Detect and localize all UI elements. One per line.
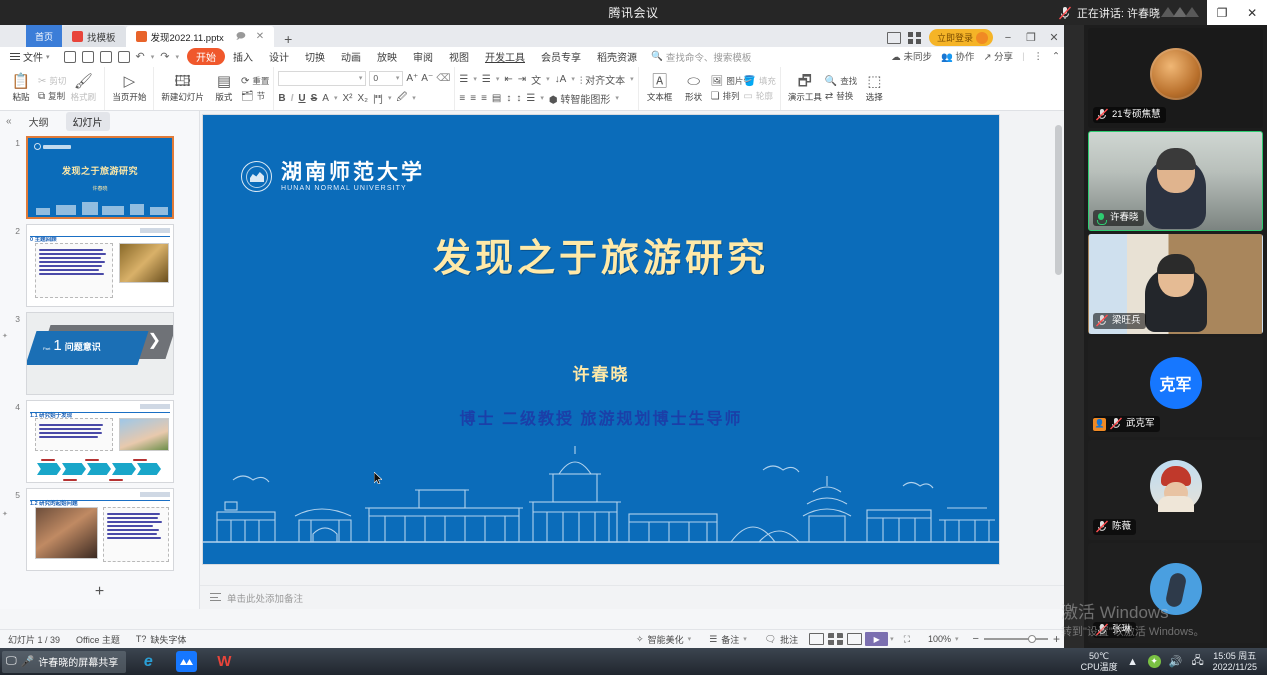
mic-muted-glyph (1096, 623, 1108, 636)
participant-tile-3[interactable]: 梁旺兵 (1088, 234, 1263, 334)
wps-office-window: 首页 找模板 发现2022.11.pptx 🗩 ✕ + 立即登录 − (0, 25, 1064, 648)
chevron-down-icon: ▾ (359, 74, 363, 82)
divider (30, 500, 170, 502)
status-bar-right: ✧ 智能美化 ▾ ☰ 备注 ▾ 🗨 批注 ▶ ▾ ⛶ (628, 632, 1064, 646)
chevron-down-icon: ▾ (396, 74, 400, 82)
participant-name-badge: 梁旺兵 (1093, 313, 1146, 329)
chevron-down-icon[interactable]: ▾ (890, 635, 894, 643)
new-slide-button[interactable]: 🖽 新建幻灯片 (158, 74, 207, 103)
thumbnail-content: 发现之于旅游研究 许春晓 (28, 138, 172, 217)
divider (30, 412, 170, 414)
text-direction-icon[interactable]: 文 (531, 72, 541, 87)
close-window-icon[interactable]: ✕ (1046, 31, 1062, 44)
paste-button[interactable]: 📋 粘贴 (4, 74, 38, 103)
wps-work-area: « 大纲 幻灯片 1 (0, 111, 1064, 609)
participant-name-badge: 21专硕焦慧 (1093, 107, 1166, 123)
avatar: 克军 (1150, 357, 1202, 409)
avatar (1150, 48, 1202, 100)
mic-muted-glyph (1096, 314, 1108, 327)
thumbnail-list[interactable]: 1 发现之于旅游研究 许春晓 (0, 131, 199, 575)
clipboard-group: 📋 粘贴 ✂ 剪切 ⧉ 复制 🖌 格式刷 (0, 67, 104, 111)
chevron-down-icon: ▾ (388, 94, 392, 102)
notes-icon: ☰ (709, 634, 717, 645)
slide-canvas-area: 湖南师范大学 HUNAN NORMAL UNIVERSITY 发现之于旅游研究 … (200, 111, 1064, 609)
slide-content: 湖南师范大学 HUNAN NORMAL UNIVERSITY 发现之于旅游研究 … (203, 115, 999, 564)
font-color-icon[interactable]: 🖉 (397, 90, 408, 107)
search-placeholder: 查找命令、搜索模板 (666, 50, 752, 64)
windows-taskbar: 🖵 🎤 许春晓的屏幕共享 e W 50℃ CPU温度 ▲ ✦ 🔊 � (0, 648, 1267, 675)
justify-icon[interactable]: ▤ (492, 93, 501, 104)
university-seal-icon (241, 161, 272, 192)
undo-dropdown-icon[interactable]: ▾ (151, 53, 155, 61)
microphone-icon (1059, 6, 1071, 20)
collaborate-button[interactable]: 👥 协作 (941, 49, 974, 63)
zoom-slider[interactable]: − + (973, 632, 1060, 646)
participant-name-badge: 许春晓 (1093, 210, 1144, 226)
notes-pane[interactable]: 单击此处添加备注 (200, 585, 1064, 609)
chevron-down-icon: ▾ (334, 94, 338, 102)
close-icon[interactable]: ✕ (1247, 6, 1257, 20)
arrange-button[interactable]: ❏ 排列 (711, 90, 744, 102)
search-icon: 🔍 (651, 51, 663, 62)
align-center-icon[interactable]: ≡ (470, 93, 476, 104)
subscript-icon[interactable]: X₂ (357, 93, 368, 104)
volume-icon[interactable]: 🔊 (1169, 655, 1183, 669)
slideshow-group: ▷ 当页开始 (104, 67, 153, 111)
part-label: Part (43, 346, 50, 351)
tab-design[interactable]: 设计 (261, 49, 297, 64)
copy-button[interactable]: ⧉ 复制 (38, 90, 66, 102)
quick-access-toolbar: ↶ ▾ ↷ ▾ (56, 50, 187, 63)
meeting-glyph (179, 657, 194, 667)
avatar-initials: 克军 (1159, 371, 1191, 395)
share-button[interactable]: ↗ 分享 (983, 49, 1013, 63)
new-tab-button[interactable]: + (274, 31, 302, 47)
format-painter-icon: 🖌 (74, 74, 93, 89)
taskbar-item-wps-office[interactable]: W (208, 650, 240, 674)
person-silhouette (1164, 572, 1187, 609)
select-icon: ⬚ (867, 74, 881, 89)
thumbnail-content: Part 1 问题意识 ❯ (27, 313, 173, 394)
chevron-down-icon: ▾ (615, 94, 619, 102)
person-hair (1157, 254, 1195, 274)
participant-tile-6[interactable]: 张琳 (1088, 543, 1263, 643)
part-title: 问题意识 (65, 340, 101, 353)
font-name-input[interactable]: ▾ (278, 71, 366, 86)
notes-icon (210, 593, 221, 602)
canvas-vertical-scrollbar[interactable] (1053, 111, 1064, 581)
list-item[interactable]: 5 ✦ 1.2 研究的起始问题 (0, 483, 199, 571)
restore-icon[interactable]: ❐ (1217, 6, 1228, 20)
maximize-icon[interactable]: ❐ (1023, 31, 1039, 44)
logo-text (43, 145, 71, 149)
paste-icon: 📋 (12, 74, 31, 89)
bullet-list-icon[interactable]: ☰ (459, 74, 468, 85)
thumbnail-text-block (35, 418, 113, 451)
microphone-muted-icon (1096, 314, 1108, 328)
shape-button[interactable]: ⬭ 形状 (677, 74, 711, 103)
taskbar-item-tencent-meeting[interactable] (170, 650, 202, 674)
thumbnail-pane-header: « 大纲 幻灯片 (0, 111, 199, 131)
campus-skyline-graphic (203, 424, 999, 564)
thumbnail-text-block (35, 243, 113, 298)
save-as-icon[interactable] (82, 51, 94, 63)
tab-view[interactable]: 视图 (441, 49, 477, 64)
microphone-muted-icon (1110, 417, 1122, 431)
section-button[interactable]: 🗂 节 (241, 90, 269, 102)
zoom-in-button[interactable]: + (1053, 632, 1060, 646)
underline-button[interactable]: U (298, 93, 305, 104)
numbered-list-icon[interactable]: ☰ (482, 74, 491, 85)
wps-status-bar: 幻灯片 1 / 39 Office 主题 T? 缺失字体 ✧ 智能美化 ▾ ☰ … (0, 629, 1064, 648)
minimize-icon[interactable]: − (1000, 32, 1016, 44)
tab-comment-icon[interactable]: 🗩 (236, 29, 246, 45)
speaking-indicator: 正在讲话: 许春晓 (1049, 0, 1170, 25)
tab-outline[interactable]: 大纲 (22, 112, 56, 131)
arrange-icon: ❏ (711, 91, 720, 102)
character-spacing-icon[interactable]: 鬥 (373, 91, 383, 106)
font-size-input[interactable]: 0 ▾ (369, 71, 403, 86)
slide-author[interactable]: 许春晓 (203, 360, 999, 385)
clock-time: 15:05 周五 (1213, 651, 1257, 662)
list-item[interactable]: 4 ✦ 1.1 研究始于发现 (0, 395, 199, 483)
security-shield-icon[interactable]: ✦ (1148, 655, 1161, 668)
user-avatar-icon (976, 32, 988, 44)
font-warning-icon: T? (136, 634, 147, 644)
convert-smartart-button[interactable]: ⬢ 转智能图形 (549, 91, 611, 106)
find-button[interactable]: 🔍 查找 (825, 75, 857, 87)
reading-view-button[interactable] (847, 633, 862, 645)
align-right-icon[interactable]: ≡ (481, 93, 487, 104)
thumbnail-image (119, 418, 169, 451)
tab-close-icon[interactable]: ✕ (256, 31, 264, 42)
search-icon: 🔍 (825, 76, 837, 87)
picture-icon: 🖼 (711, 76, 724, 87)
present-tools-button[interactable]: 🗗 演示工具 (785, 74, 825, 103)
sort-icon[interactable]: ↓A (555, 74, 567, 85)
meeting-app-title: 腾讯会议 (608, 4, 658, 21)
wps-tab-strip: 首页 找模板 发现2022.11.pptx 🗩 ✕ + 立即登录 − (0, 25, 1064, 47)
tab-templates[interactable]: 找模板 (62, 26, 126, 47)
university-name-en: HUNAN NORMAL UNIVERSITY (281, 185, 425, 192)
cut-button[interactable]: ✂ 剪切 (38, 75, 66, 87)
sync-status-button[interactable]: ☁ 未同步 (891, 49, 932, 63)
notes-toggle-button[interactable]: ☰ 备注 ▾ (701, 633, 755, 646)
increase-font-size-icon[interactable]: A⁺ (406, 73, 418, 84)
tab-member-exclusive[interactable]: 会员专享 (533, 49, 589, 64)
ribbon-toolbar: 📋 粘贴 ✂ 剪切 ⧉ 复制 🖌 格式刷 (0, 67, 1064, 111)
split-view-icon[interactable] (887, 32, 901, 44)
login-button[interactable]: 立即登录 (929, 29, 993, 46)
fit-to-window-icon[interactable]: ⛶ (896, 634, 918, 645)
reset-button[interactable]: ⟳ 重置 (241, 75, 269, 87)
thumbnail-title-group: Part 1 问题意识 (43, 338, 101, 353)
chevron-down-icon: ▾ (473, 75, 477, 83)
align-left-icon[interactable]: ≡ (459, 93, 465, 104)
participant-tile-4[interactable]: 克军 👤 武克军 (1088, 337, 1263, 437)
list-item[interactable]: 3 ✦ Part 1 问题意识 ❯ (0, 307, 199, 395)
decrease-font-size-icon[interactable]: A⁻ (421, 73, 433, 84)
present-tools-icon: 🗗 (798, 74, 812, 89)
participant-tile-1[interactable]: 21专硕焦慧 (1088, 28, 1263, 128)
logo-mini (140, 404, 170, 409)
slide-thumbnail-5[interactable]: 1.2 研究的起始问题 (26, 488, 174, 571)
scrollbar-thumb[interactable] (1055, 125, 1062, 275)
beautify-icon: ✧ (636, 634, 644, 645)
university-logo: 湖南师范大学 HUNAN NORMAL UNIVERSITY (241, 161, 425, 192)
chevron-down-icon: ▾ (955, 635, 959, 643)
reset-icon: ⟳ (241, 76, 249, 87)
tab-docer-resources[interactable]: 稻壳资源 (589, 49, 645, 64)
chevron-down-icon: ▾ (540, 94, 544, 102)
thumbnail-header: 0 主题回顾 (30, 228, 170, 237)
chevron-right-icon: ❯ (148, 330, 161, 350)
comment-icon: 🗨 (765, 634, 776, 645)
tab-slideshow[interactable]: 放映 (369, 49, 405, 64)
chevron-down-icon: ▾ (630, 75, 634, 83)
chevron-down-icon: ▾ (688, 635, 692, 643)
redo-icon[interactable]: ↷ (160, 50, 169, 63)
thumbnail-text-block (103, 507, 169, 562)
layout-button[interactable]: ▤ 版式 (207, 74, 241, 103)
increase-indent-icon[interactable]: ⇥ (518, 74, 526, 85)
fill-button[interactable]: 🪣 填充 (743, 75, 775, 87)
microphone-muted-icon (1096, 520, 1108, 534)
speaking-label: 正在讲话: 许春晓 (1077, 5, 1160, 21)
slide-number: 3 (4, 312, 20, 395)
list-item[interactable]: 2 ✦ 0 主题回顾 (0, 219, 199, 307)
logo-mini (140, 228, 170, 233)
participant-tile-5[interactable]: 陈薇 (1088, 440, 1263, 540)
paragraph-spacing-icon[interactable]: ↕ (516, 93, 521, 104)
tab-animation[interactable]: 动画 (333, 49, 369, 64)
slide-number: 5 (4, 488, 20, 571)
divider (30, 236, 170, 238)
file-menu-button[interactable]: 文件 ▾ (4, 49, 56, 64)
list-item[interactable]: 1 发现之于旅游研究 许春晓 (0, 131, 199, 219)
select-button[interactable]: ⬚ 选择 (857, 74, 891, 103)
cpu-temp-label: CPU温度 (1081, 662, 1118, 673)
grid-view-icon[interactable] (908, 32, 922, 44)
microphone-active-icon (1096, 212, 1106, 225)
italic-button[interactable]: I (291, 93, 294, 104)
network-icon[interactable]: 🖧 (1191, 655, 1205, 669)
thumbnail-header: 1.1 研究始于发现 (30, 404, 170, 413)
tab-slides[interactable]: 幻灯片 (66, 112, 110, 131)
slide-number: 1 (4, 136, 20, 219)
zoom-track[interactable] (984, 638, 1048, 639)
share-label: 许春晓的屏幕共享 (38, 654, 118, 669)
tencent-meeting-logo-icon (1155, 3, 1207, 23)
slide-title[interactable]: 发现之于旅游研究 (203, 227, 999, 282)
university-name-group: 湖南师范大学 HUNAN NORMAL UNIVERSITY (281, 161, 425, 192)
format-painter-button[interactable]: 🖌 格式刷 (66, 74, 100, 103)
slide-counter: 幻灯片 1 / 39 (0, 633, 68, 646)
missing-font-warning[interactable]: T? 缺失字体 (128, 633, 195, 646)
thumbnail-header: 1.2 研究的起始问题 (30, 492, 170, 501)
more-options-icon[interactable]: ⋮ (1034, 51, 1044, 62)
taskbar-item-ie-browser[interactable]: e (132, 650, 164, 674)
drawing-group: 🄰 文本框 ⬭ 形状 🖼 图片 ❏ 排列 (638, 67, 780, 111)
tab-insert[interactable]: 插入 (225, 49, 261, 64)
section-icon: 🗂 (241, 91, 254, 102)
microphone-muted-icon (1096, 623, 1108, 637)
clear-format-icon[interactable]: ⌫ (436, 73, 450, 84)
person-hair (1156, 148, 1196, 170)
hamburger-icon (10, 53, 20, 61)
participant-name: 陈薇 (1112, 520, 1131, 534)
font-group: ▾ 0 ▾ A⁺ A⁻ ⌫ B I U S (273, 67, 454, 111)
chevron-down-icon: ▾ (46, 53, 50, 61)
mic-muted-glyph (1096, 520, 1108, 533)
strikethrough-button[interactable]: S (311, 93, 318, 104)
columns-icon[interactable]: ☰ (526, 93, 535, 104)
mouse-cursor-icon (374, 472, 382, 484)
mic-muted-glyph (1096, 108, 1108, 121)
slide-thumbnail-3[interactable]: Part 1 问题意识 ❯ (26, 312, 174, 395)
participant-name: 梁旺兵 (1112, 314, 1141, 328)
tencent-meeting-icon (176, 651, 197, 672)
host-badge-icon: 👤 (1093, 418, 1106, 431)
collapse-ribbon-icon[interactable]: ⌃ (1052, 51, 1060, 62)
chevron-down-icon: ▾ (412, 94, 416, 102)
layout-icon: ▤ (217, 74, 231, 89)
play-circle-icon: ▷ (124, 74, 136, 89)
outline-button[interactable]: ▭ 轮廓 (743, 90, 775, 102)
superscript-icon[interactable]: X² (342, 93, 352, 104)
wps-office-icon: W (214, 651, 235, 672)
thumbnail-chevron-diagram (37, 463, 161, 475)
university-name-cn: 湖南师范大学 (281, 161, 425, 183)
replace-button[interactable]: ⇄ 替换 (825, 90, 857, 102)
normal-view-button[interactable] (809, 633, 824, 645)
participant-name-badge: 陈薇 (1093, 519, 1136, 535)
slide-thumbnail-4[interactable]: 1.1 研究始于发现 (26, 400, 174, 483)
thumbnail-author: 许春晓 (28, 185, 172, 192)
thumbnail-image (119, 243, 169, 283)
print-preview-icon[interactable] (118, 51, 130, 63)
tab-home[interactable]: 首页 (26, 25, 62, 47)
slide-sorter-view-button[interactable] (828, 633, 843, 645)
microphone-icon: 🎤 (21, 655, 35, 668)
clock-date: 2022/11/25 (1213, 662, 1257, 673)
zoom-knob[interactable] (1028, 635, 1036, 643)
tabstrip-right-controls: 立即登录 − ❐ ✕ (887, 29, 1062, 46)
meeting-window-controls: ❐ ✕ (1207, 0, 1267, 25)
slide-thumbnail-2[interactable]: 0 主题回顾 (26, 224, 174, 307)
line-spacing-icon[interactable]: ↕ (506, 93, 511, 104)
avatar (1150, 460, 1202, 512)
smart-beautify-button[interactable]: ✧ 智能美化 ▾ (628, 633, 699, 646)
chevron-down-icon: ▾ (743, 635, 747, 643)
slide-thumbnail-pane: « 大纲 幻灯片 1 (0, 111, 200, 609)
show-hidden-icons-icon[interactable]: ▲ (1126, 655, 1140, 669)
start-slideshow-button[interactable]: ▶ (865, 632, 888, 646)
template-icon (72, 31, 83, 42)
customize-qat-icon[interactable]: ▾ (175, 53, 179, 61)
copy-icon: ⧉ (38, 91, 45, 102)
new-slide-icon: 🖽 (175, 74, 191, 89)
slide-number: 4 (4, 400, 20, 483)
logo-mini (140, 492, 170, 497)
align-text-button[interactable]: ⫶ 对齐文本 (580, 72, 625, 87)
ribbon-right-controls: ☁ 未同步 👥 协作 ↗ 分享 | ⋮ ⌃ (891, 49, 1060, 63)
university-logo-mini (34, 143, 71, 150)
ribbon-menu-bar: 文件 ▾ ↶ ▾ ↷ ▾ 开始 插入 设计 切换 动画 放映 审阅 视图 开发工… (0, 47, 1064, 67)
tab-review[interactable]: 审阅 (405, 49, 441, 64)
text-box-button[interactable]: 🄰 文本框 (643, 74, 677, 103)
text-box-icon: 🄰 (652, 74, 667, 89)
participant-name: 张琳 (1112, 623, 1131, 637)
save-icon[interactable] (64, 51, 76, 63)
command-search-box[interactable]: 🔍 查找命令、搜索模板 (645, 50, 751, 64)
paragraph-group: ☰ ▾ ☰ ▾ ⇤ ⇥ 文 ▾ ↓A ▾ ⫶ 对齐文本 ▾ ≡ (454, 67, 637, 111)
participant-name: 武克军 (1126, 417, 1155, 431)
screen-share-indicator[interactable]: 🖵 🎤 许春晓的屏幕共享 (2, 651, 126, 673)
taskbar-clock[interactable]: 15:05 周五 2022/11/25 (1213, 651, 1257, 673)
decrease-indent-icon[interactable]: ⇤ (504, 74, 512, 85)
thumbnail-image (35, 507, 98, 559)
part-number: 1 (53, 338, 61, 353)
undo-icon[interactable]: ↶ (136, 50, 145, 63)
picture-button[interactable]: 🖼 图片 (711, 75, 744, 87)
zoom-level[interactable]: 100% ▾ (920, 634, 967, 644)
microphone-glyph (1059, 6, 1071, 20)
cpu-temp-value: 50℃ (1081, 651, 1118, 662)
print-icon[interactable] (100, 51, 112, 63)
tab-transition[interactable]: 切换 (297, 49, 333, 64)
pptx-file-icon (136, 31, 147, 42)
slide-number: 2 (4, 224, 20, 307)
taskbar-system-tray: 50℃ CPU温度 ▲ ✦ 🔊 🖧 15:05 周五 2022/11/25 (1081, 651, 1267, 673)
divider: | (1022, 51, 1024, 62)
microphone-muted-icon (1096, 108, 1108, 122)
mic-muted-glyph (1110, 417, 1122, 430)
cpu-temperature-indicator[interactable]: 50℃ CPU温度 (1081, 651, 1118, 673)
slides-group: 🖽 新建幻灯片 ▤ 版式 ⟳ 重置 🗂 节 (153, 67, 273, 111)
chevron-down-icon: ▾ (546, 75, 550, 83)
participant-name: 21专硕焦慧 (1112, 108, 1161, 122)
slide-editing-surface[interactable]: 湖南师范大学 HUNAN NORMAL UNIVERSITY 发现之于旅游研究 … (202, 114, 1000, 565)
tab-developer-tools[interactable]: 开发工具 (477, 49, 533, 64)
person-scarf (1158, 496, 1194, 512)
participant-name-badge: 张琳 (1093, 622, 1136, 638)
participant-tile-2[interactable]: 许春晓 (1088, 131, 1263, 231)
ie-browser-icon: e (138, 651, 159, 672)
participant-name-badge: 👤 武克军 (1093, 416, 1160, 432)
participant-video-rail[interactable]: 21专硕焦慧 许春晓 (1084, 25, 1267, 648)
comments-button[interactable]: 🗨 批注 (757, 633, 806, 646)
avatar (1150, 563, 1202, 615)
slide-thumbnail-1[interactable]: 发现之于旅游研究 许春晓 (26, 136, 174, 219)
scissors-icon: ✂ (38, 76, 46, 87)
notes-placeholder: 单击此处添加备注 (227, 591, 303, 605)
skyline-graphic (28, 195, 172, 217)
theme-name[interactable]: Office 主题 (68, 633, 128, 646)
tab-presentation-file[interactable]: 发现2022.11.pptx 🗩 ✕ (126, 26, 275, 47)
bold-button[interactable]: B (278, 93, 285, 104)
zoom-out-button[interactable]: − (973, 633, 979, 645)
monitor-icon: 🖵 (6, 655, 17, 668)
screen: 腾讯会议 正在讲话: 许春晓 ❐ ✕ 首页 找模板 (0, 0, 1267, 675)
participant-name: 许春晓 (1110, 211, 1139, 225)
text-shadow-icon[interactable]: A (322, 93, 329, 104)
tab-start[interactable]: 开始 (187, 48, 225, 65)
outline-icon: ▭ (743, 91, 752, 102)
collapse-left-icon[interactable]: « (6, 116, 12, 127)
start-from-current-button[interactable]: ▷ 当页开始 (109, 74, 149, 103)
add-slide-button[interactable]: + (0, 575, 199, 609)
